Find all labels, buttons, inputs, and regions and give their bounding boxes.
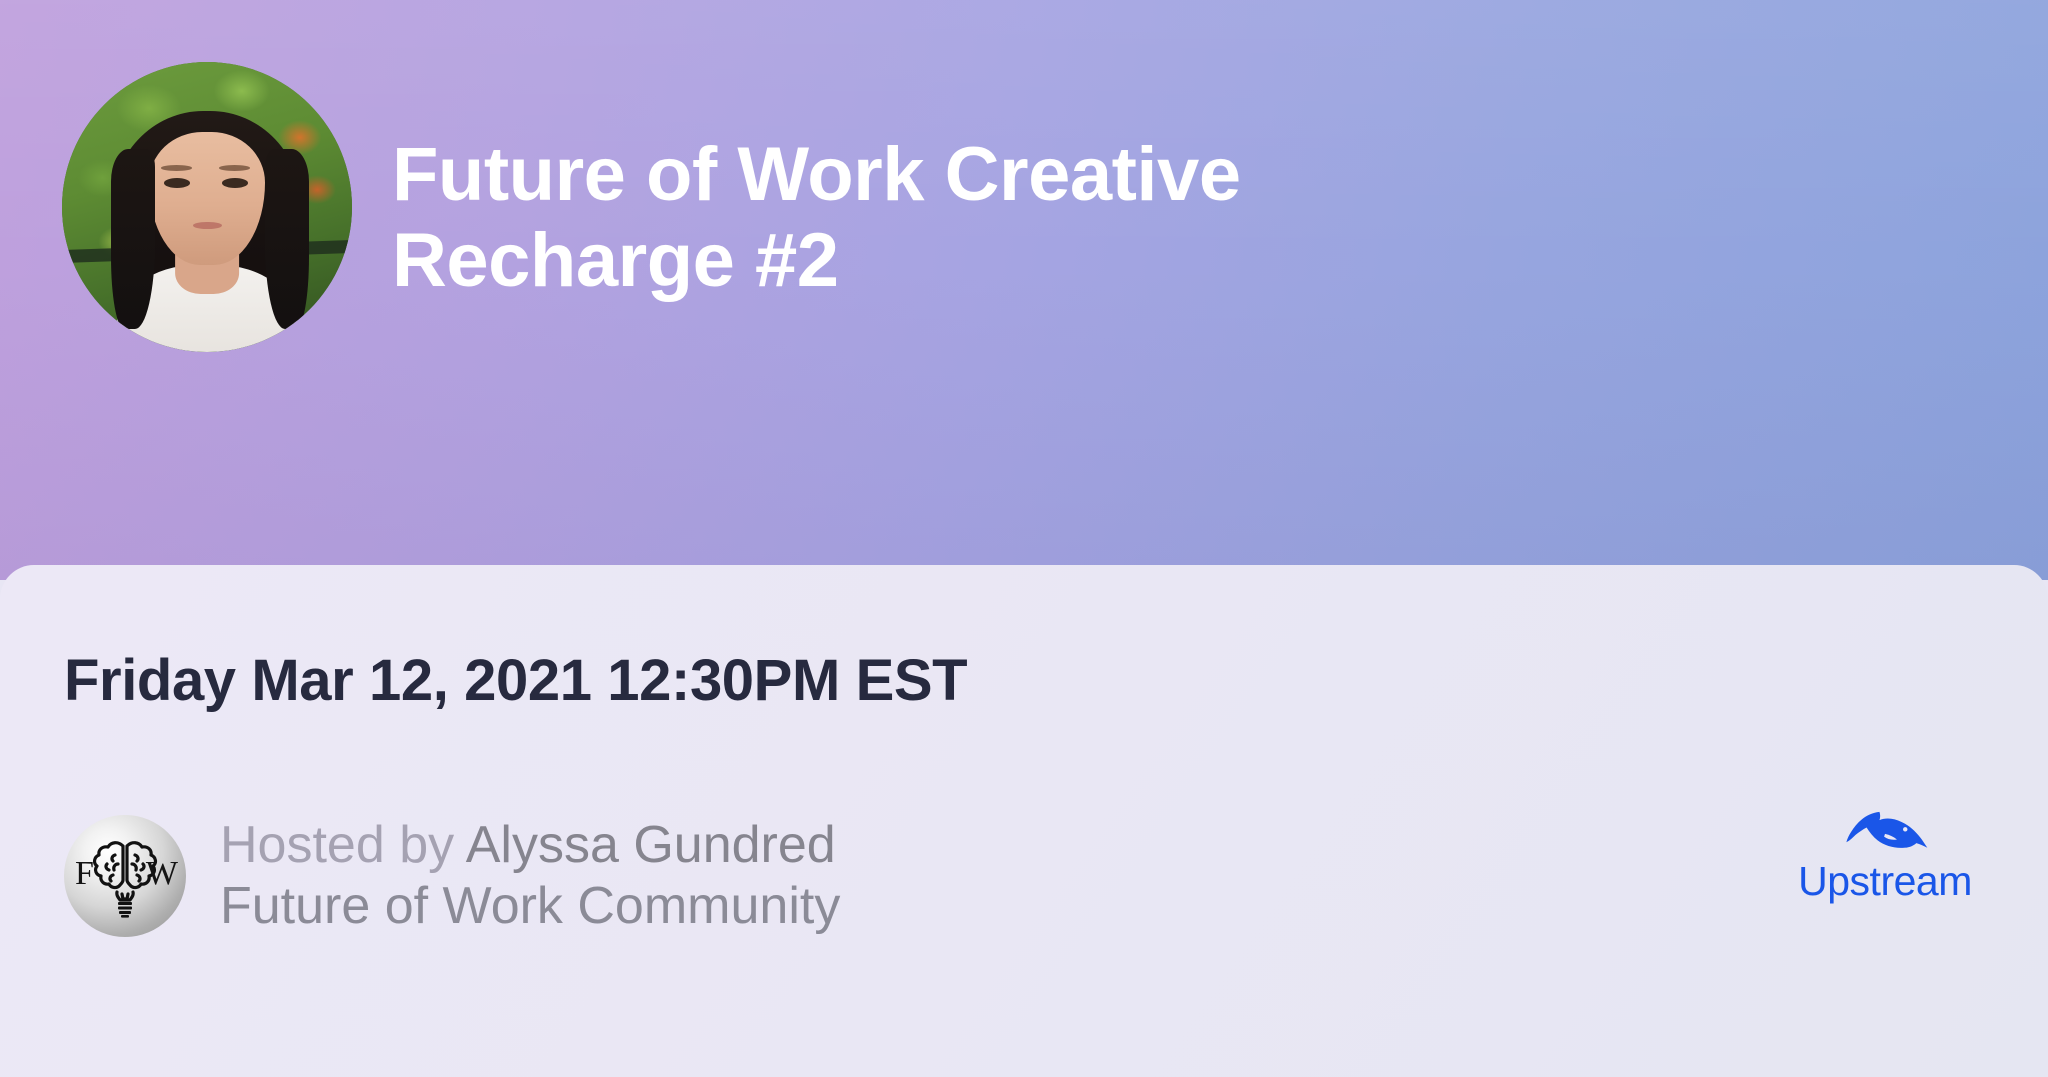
future-of-work-logo: F bbox=[64, 815, 186, 937]
host-organization: Future of Work Community bbox=[220, 876, 840, 937]
event-banner: Future of Work Creative Recharge #2 Frid… bbox=[0, 0, 2048, 1077]
logo-letter-w: W bbox=[146, 857, 178, 891]
host-name: Alyssa Gundred bbox=[466, 816, 836, 874]
avatar-hair-strand-left bbox=[111, 149, 155, 329]
avatar-photo bbox=[62, 62, 352, 352]
event-datetime: Friday Mar 12, 2021 12:30PM EST bbox=[64, 647, 967, 714]
host-line-primary: Hosted by Alyssa Gundred bbox=[220, 815, 840, 876]
avatar-mouth bbox=[193, 222, 222, 230]
hosted-by-label: Hosted by bbox=[220, 816, 466, 874]
upstream-wordmark: Upstream bbox=[1798, 861, 1972, 902]
avatar-eye-left bbox=[164, 178, 190, 188]
speaker-avatar bbox=[62, 62, 352, 352]
bulb-base bbox=[118, 902, 132, 918]
avatar-eyebrow-right bbox=[219, 165, 251, 171]
avatar-hair-strand-right bbox=[265, 149, 309, 329]
dolphin-icon bbox=[1839, 809, 1931, 857]
event-title: Future of Work Creative Recharge #2 bbox=[392, 132, 1952, 304]
avatar-eyebrow-left bbox=[161, 165, 193, 171]
upstream-brand-lockup[interactable]: Upstream bbox=[1790, 809, 1980, 925]
avatar-eye-right bbox=[222, 178, 248, 188]
event-details-card: Friday Mar 12, 2021 12:30PM EST F bbox=[0, 565, 2048, 1077]
host-text-block: Hosted by Alyssa Gundred Future of Work … bbox=[220, 815, 840, 938]
host-row: F bbox=[64, 815, 840, 938]
